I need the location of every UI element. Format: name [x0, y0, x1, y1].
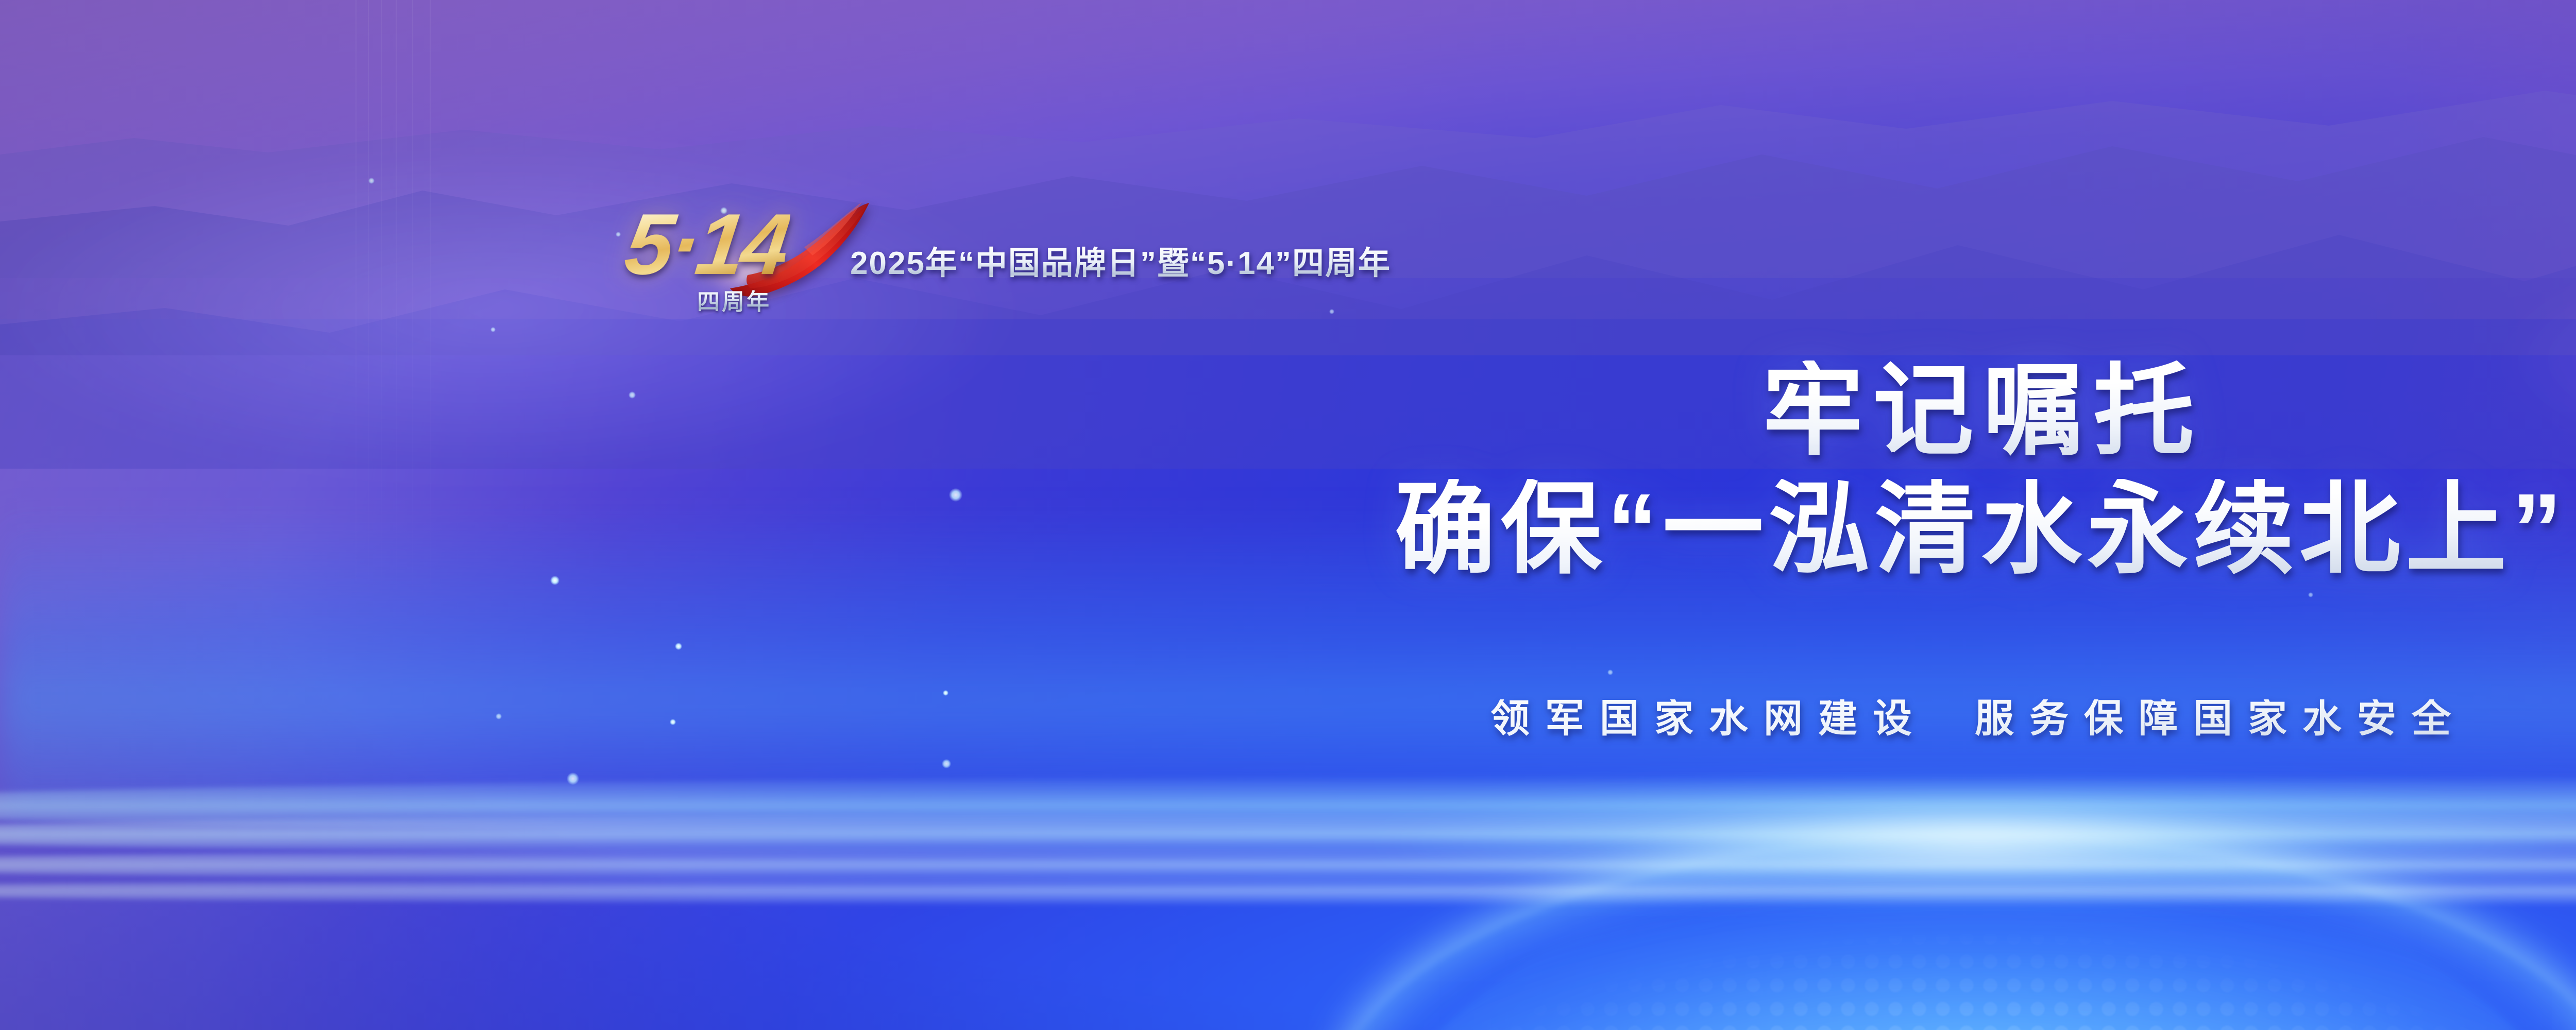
headline-line-2: 确保“一泓清水永续北上”	[0, 479, 2576, 580]
tagline: 领军国家水网建设服务保障国家水安全	[0, 699, 2576, 739]
anniversary-logo-mark: 5·14 四周年	[626, 205, 829, 316]
headline-line-1: 牢记嘱托	[0, 360, 2576, 461]
tagline-part-1: 领军国家水网建设	[1490, 697, 1927, 741]
anniversary-lockup: 5·14 四周年 2025年“中国品牌日”暨“5·14”四周年	[626, 203, 1492, 317]
headline: 牢记嘱托 确保“一泓清水永续北上”	[0, 360, 2576, 580]
anniversary-years-label: 四周年	[697, 283, 771, 316]
event-title: 2025年“中国品牌日”暨“5·14”四周年	[850, 237, 1391, 283]
brand-banner: 5·14 四周年 2025年“中国品牌日”暨“5·14”四周年	[0, 0, 2576, 1030]
anniversary-date-mark: 5·14	[621, 201, 792, 287]
banner-content: 5·14 四周年 2025年“中国品牌日”暨“5·14”四周年	[0, 0, 2576, 1030]
tagline-part-2: 服务保障国家水安全	[1975, 697, 2466, 741]
